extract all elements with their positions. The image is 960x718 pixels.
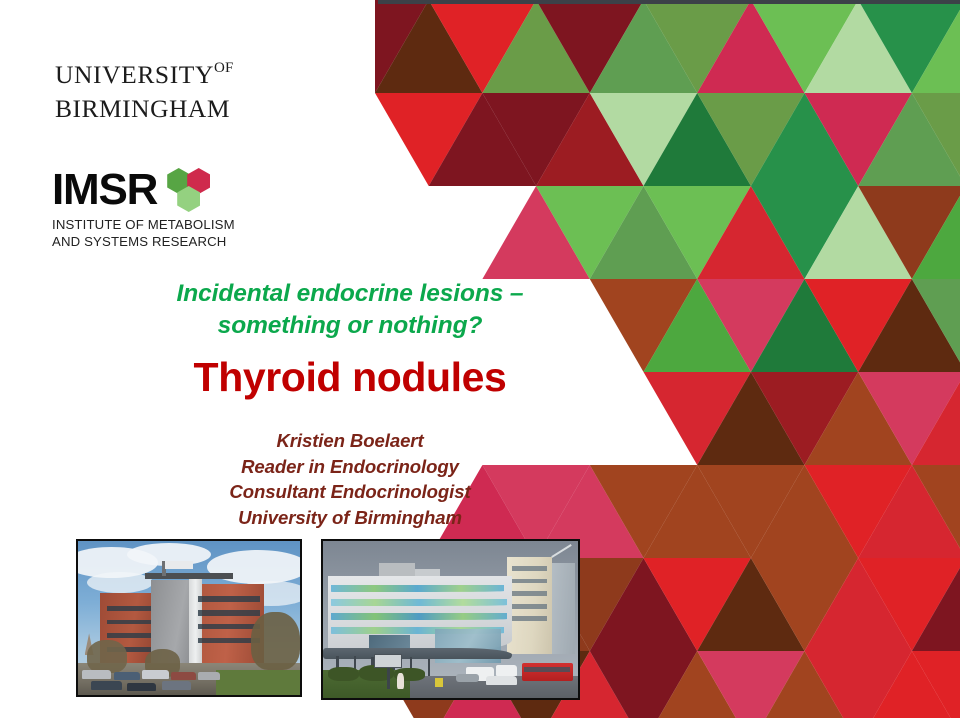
photo2-van [496, 665, 516, 676]
photo2-tower-window [512, 616, 548, 621]
photo1-car [171, 672, 195, 680]
photo2-window-band [331, 599, 507, 606]
photo1-car [162, 681, 191, 689]
top-accent-strip [378, 0, 960, 4]
photo2-window-band [331, 585, 504, 592]
uob-logo-line2: BIRMINGHAM [55, 96, 234, 122]
photo2-car [456, 674, 479, 682]
university-of-birmingham-logo: UNIVERSITYOF BIRMINGHAM [55, 62, 234, 121]
imsr-acronym: IMSR [52, 169, 157, 211]
author-role: Reader in Endocrinology [0, 454, 700, 480]
photo1-car [114, 672, 141, 680]
photo1-car [82, 670, 111, 678]
imsr-subtitle: INSTITUTE OF METABOLISM AND SYSTEMS RESE… [52, 217, 235, 250]
author-position: Consultant Endocrinologist [0, 479, 700, 505]
photo2-entrance-canopy [323, 648, 512, 659]
uob-logo-line1: UNIVERSITY [55, 62, 214, 88]
photo1-window-row [107, 620, 151, 625]
photo2-tower-window [512, 604, 548, 609]
photo2-canopy-post [428, 659, 431, 678]
slide-subtitle: Incidental endocrine lesions – something… [0, 278, 700, 343]
photo1-grass [216, 670, 300, 695]
subtitle-line2: something or nothing? [0, 310, 700, 342]
photo2-sign-post [387, 668, 390, 688]
photo1-window-row [198, 610, 260, 615]
photo2-car [486, 676, 517, 685]
photo1-window-row [198, 596, 260, 601]
photo2-tower-window [512, 579, 548, 584]
imsr-subtitle-line2: AND SYSTEMS RESEARCH [52, 234, 235, 251]
photo2-shrub [328, 667, 359, 681]
author-institution: University of Birmingham [0, 505, 700, 531]
photo1-tree [251, 612, 300, 671]
photo-medical-school [76, 539, 302, 697]
photo1-car [91, 681, 122, 689]
photo1-tree [87, 640, 127, 674]
photo2-window-band [331, 613, 507, 620]
photo2-tower-window [512, 566, 548, 571]
slide-title: Thyroid nodules [0, 354, 700, 401]
photo2-tower-window [512, 591, 548, 596]
photo2-sign-board [374, 654, 402, 668]
subtitle-line1: Incidental endocrine lesions – [0, 278, 700, 310]
photo2-pedestrian [397, 673, 404, 689]
author-name: Kristien Boelaert [0, 428, 700, 454]
photo1-roof-sign [165, 561, 194, 569]
photo2-bus-window [524, 667, 570, 672]
title-slide: UNIVERSITYOF BIRMINGHAM IMSR INSTITUTE O… [0, 0, 960, 718]
imsr-subtitle-line1: INSTITUTE OF METABOLISM [52, 217, 235, 234]
photo2-roof-plant [379, 563, 415, 577]
photo-hospital [321, 539, 580, 700]
imsr-logo: IMSR INSTITUTE OF METABOLISM AND SYSTEMS… [52, 168, 235, 250]
photo1-window-row [198, 624, 260, 629]
photo1-window-row [107, 633, 151, 638]
imsr-hexagon-icon [167, 168, 215, 212]
photo1-car [142, 670, 169, 678]
photo1-car [127, 683, 156, 691]
photo1-window-row [107, 606, 151, 611]
uob-logo-of: OF [214, 61, 234, 76]
author-block: Kristien Boelaert Reader in Endocrinolog… [0, 428, 700, 531]
photo1-roof-bar [145, 573, 234, 579]
photo2-bin [435, 678, 443, 687]
photo1-car [198, 672, 220, 680]
photo1-stairwell [189, 578, 202, 666]
